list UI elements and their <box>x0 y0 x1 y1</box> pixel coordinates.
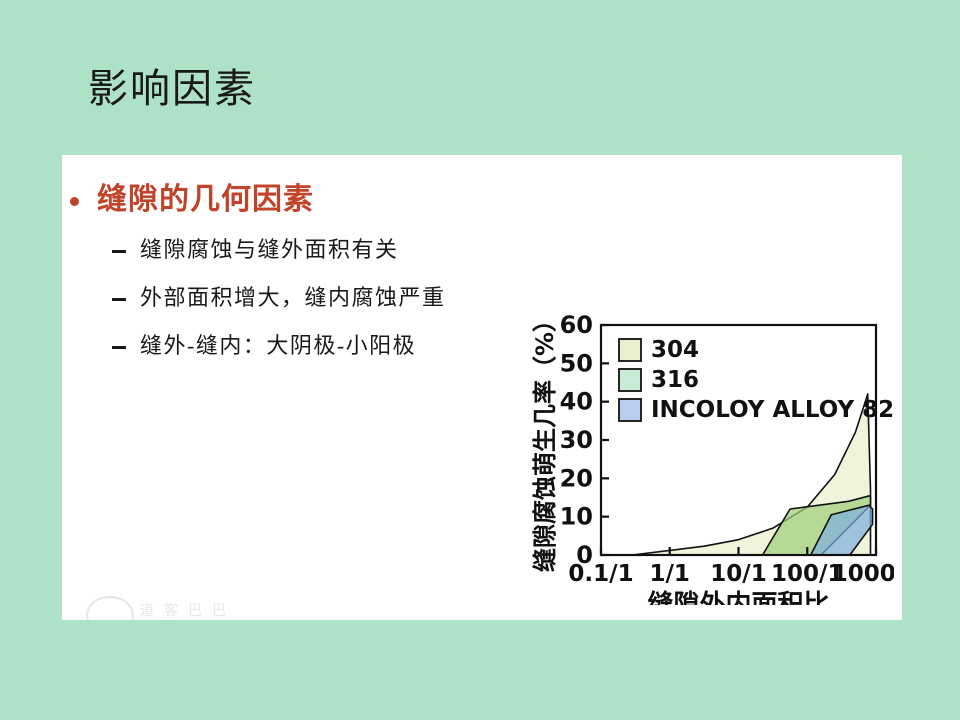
chart-svg: 01020304050600.1/11/110/1100/11000/1缝隙外内… <box>494 305 894 605</box>
sub-bullet-label: 外部面积增大，缝内腐蚀严重 <box>140 283 446 313</box>
y-tick-label: 20 <box>560 464 593 492</box>
x-tick-label: 1/1 <box>650 561 690 587</box>
sub-bullet-label: 缝隙腐蚀与缝外面积有关 <box>140 235 399 265</box>
arc-logo-icon <box>86 596 134 620</box>
legend-label: INCOLOY ALLOY 825 <box>651 397 894 423</box>
watermark: 道客巴巴 <box>80 594 330 620</box>
y-tick-label: 50 <box>560 349 593 377</box>
crevice-corrosion-chart: 01020304050600.1/11/110/1100/11000/1缝隙外内… <box>494 305 894 605</box>
legend-label: 316 <box>651 367 699 393</box>
y-tick-label: 30 <box>560 426 593 454</box>
sub-bullet-item: 外部面积增大，缝内腐蚀严重 <box>112 283 446 313</box>
legend-swatch <box>619 399 641 421</box>
x-axis-label: 缝隙外内面积比 <box>647 589 829 605</box>
sub-bullet-item: 缝外-缝内：大阴极-小阳极 <box>112 331 416 361</box>
legend-label: 304 <box>651 337 699 363</box>
en-dash-icon <box>112 298 126 301</box>
watermark-text: 道客巴巴 <box>140 600 236 620</box>
sub-bullet-label: 缝外-缝内：大阴极-小阳极 <box>140 331 416 361</box>
y-tick-label: 10 <box>560 503 593 531</box>
x-tick-label: 0.1/1 <box>568 561 633 587</box>
en-dash-icon <box>112 250 126 253</box>
page-title: 影响因素 <box>88 63 256 115</box>
y-tick-label: 60 <box>560 311 593 339</box>
y-axis-label: 缝隙腐蚀萌生几率（%） <box>531 308 559 572</box>
sub-bullet-item: 缝隙腐蚀与缝外面积有关 <box>112 235 399 265</box>
content-panel: 缝隙的几何因素 缝隙腐蚀与缝外面积有关 外部面积增大，缝内腐蚀严重 缝外-缝内：… <box>62 155 902 620</box>
en-dash-icon <box>112 346 126 349</box>
legend-swatch <box>619 339 641 361</box>
legend-swatch <box>619 369 641 391</box>
y-tick-label: 40 <box>560 388 593 416</box>
x-tick-label: 10/1 <box>710 561 766 587</box>
main-bullet-label: 缝隙的几何因素 <box>97 181 314 219</box>
bullet-dot-icon <box>70 197 79 206</box>
x-tick-label: 1000/1 <box>832 561 894 587</box>
main-bullet-item: 缝隙的几何因素 <box>70 181 314 219</box>
